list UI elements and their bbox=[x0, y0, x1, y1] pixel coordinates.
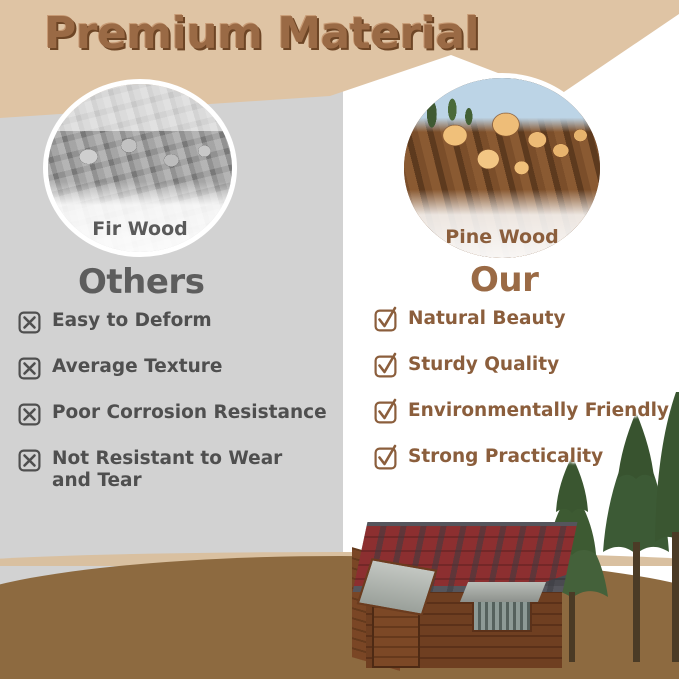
list-item: Sturdy Quality bbox=[374, 354, 674, 378]
pine-wood-label: Pine Wood bbox=[404, 226, 600, 248]
our-heading: Our bbox=[470, 260, 538, 300]
list-item-label: Environmentally Friendly bbox=[408, 400, 669, 422]
list-item-label: Poor Corrosion Resistance bbox=[52, 402, 327, 424]
list-item: Average Texture bbox=[18, 356, 338, 380]
check-icon bbox=[374, 309, 397, 332]
list-item-label: Not Resistant to Wear and Tear bbox=[52, 448, 292, 492]
fir-wood-label: Fir Wood bbox=[48, 218, 232, 240]
infographic-canvas: Premium Material Fir Wood Pine Wood Othe… bbox=[0, 0, 679, 679]
list-item-label: Natural Beauty bbox=[408, 308, 566, 330]
product-coop-image bbox=[352, 508, 592, 668]
background-trees bbox=[416, 82, 483, 129]
list-item-label: Strong Practicality bbox=[408, 446, 603, 468]
cross-icon bbox=[18, 311, 41, 334]
check-icon bbox=[374, 447, 397, 470]
pine-wood-photo: Pine Wood bbox=[404, 78, 600, 258]
others-heading: Others bbox=[78, 262, 204, 302]
list-item: Natural Beauty bbox=[374, 308, 674, 332]
check-icon bbox=[374, 355, 397, 378]
others-feature-list: Easy to Deform Average Texture Poor Corr… bbox=[18, 310, 338, 514]
page-title: Premium Material bbox=[44, 8, 479, 59]
list-item: Easy to Deform bbox=[18, 310, 338, 334]
cross-icon bbox=[18, 403, 41, 426]
list-item: Not Resistant to Wear and Tear bbox=[18, 448, 338, 492]
check-icon bbox=[374, 401, 397, 424]
cross-icon bbox=[18, 449, 41, 472]
list-item: Environmentally Friendly bbox=[374, 400, 674, 424]
list-item-label: Average Texture bbox=[52, 356, 222, 378]
list-item-label: Sturdy Quality bbox=[408, 354, 559, 376]
list-item: Poor Corrosion Resistance bbox=[18, 402, 338, 426]
list-item-label: Easy to Deform bbox=[52, 310, 212, 332]
fir-wood-photo: Fir Wood bbox=[48, 84, 232, 252]
cross-icon bbox=[18, 357, 41, 380]
coop-window-awning bbox=[460, 582, 546, 602]
